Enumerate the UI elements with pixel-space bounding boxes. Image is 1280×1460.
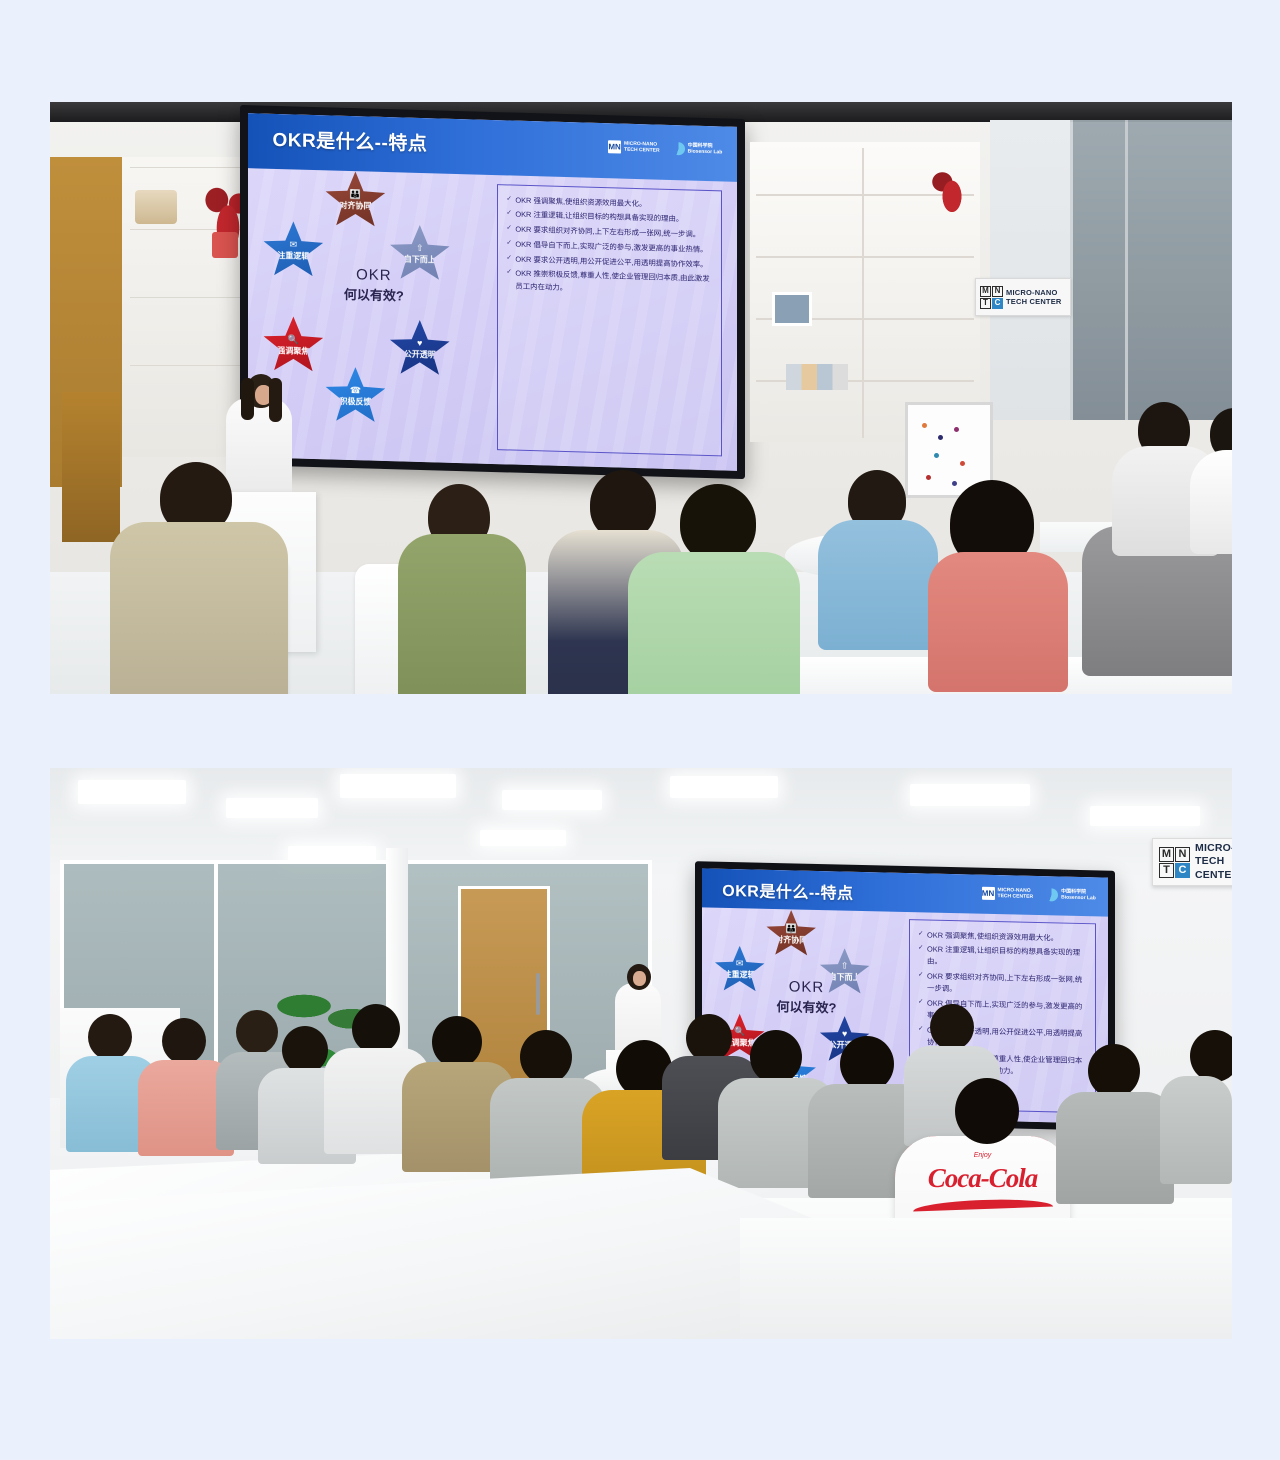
slide-title: OKR是什么--特点 (722, 877, 853, 904)
biosensor-lab-logo: 中国科学院Biosensor Lab (672, 142, 723, 156)
bullet-item: OKR 要求组织对齐协同,上下左右形成一张网,统一步调。 (918, 970, 1087, 998)
star-align-collaborate: 👪 对齐协同 (324, 171, 386, 232)
photo-meeting-closeup: OKR是什么--特点 MN MICRO-NANOTECH CENTER 中国科学… (50, 102, 1232, 694)
star-active-feedback: ☎ 积极反馈 (324, 366, 386, 427)
wall-sign-micro-nano: M N T C MICRO-NANO TECH CENTER (975, 278, 1071, 316)
wall-sign-text: MICRO-NANO TECH CENTER (1195, 842, 1232, 881)
slide-body: 👪 对齐协同 ✉ 注重逻辑 ⇧ 自下而上 🔍 (248, 168, 737, 471)
okr-slide: OKR是什么--特点 MN MICRO-NANOTECH CENTER 中国科学… (248, 113, 737, 471)
star-diagram-center-label: OKR 何以有效? (764, 977, 850, 1016)
presenter-face (633, 971, 646, 986)
up-arrow-icon: ⇧ (416, 244, 424, 253)
red-flower-arrangement-right (930, 160, 974, 212)
wall-sign-text: MICRO-NANO TECH CENTER (1006, 288, 1062, 307)
micro-nano-logo-text: MICRO-NANOTECH CENTER (998, 888, 1034, 900)
swirl-icon (672, 142, 685, 155)
side-door (990, 120, 1070, 420)
people-icon: 👪 (786, 924, 797, 933)
biosensor-lab-logo-text: 中国科学院Biosensor Lab (688, 143, 723, 155)
slide-logos: MN MICRO-NANOTECH CENTER 中国科学院Biosensor … (982, 887, 1096, 903)
ceiling-light (910, 784, 1030, 806)
star-label: 对齐协同 (775, 934, 807, 946)
envelope-icon: ✉ (290, 240, 298, 249)
star-align-collaborate: 👪 对齐协同 (765, 909, 817, 959)
star-label: 注重逻辑 (724, 969, 756, 981)
presentation-display: OKR是什么--特点 MN MICRO-NANOTECH CENTER 中国科学… (248, 113, 737, 471)
wood-panel-lower (62, 392, 120, 542)
envelope-icon: ✉ (736, 960, 744, 969)
star-label: 注重逻辑 (277, 250, 309, 262)
star-emphasize-focus: 🔍 强调聚焦 (262, 316, 324, 377)
right-counter-front (740, 1218, 1232, 1339)
mntc-logo-icon: M N T C (980, 286, 1003, 309)
micro-nano-logo-mark: MN (608, 140, 621, 153)
star-open-transparent: ♥ 公开透明 (389, 319, 451, 380)
presenter-hair-left (241, 378, 254, 420)
ceiling-light (78, 780, 186, 804)
ceiling-light (1090, 806, 1200, 826)
photo-meeting-wide: OKR是什么--特点 MN MICRO-NANOTECH CENTER 中国科学… (50, 768, 1232, 1339)
micro-nano-logo-text: MICRO-NANOTECH CENTER (624, 142, 660, 154)
attendee-head (955, 1078, 1019, 1144)
cola-brand-text: Coca-Cola (895, 1163, 1070, 1194)
star-label: 强调聚焦 (277, 345, 309, 357)
star-label: 自下而上 (404, 253, 436, 265)
glass-partition (1070, 120, 1232, 420)
ceiling-light (480, 830, 566, 846)
ceiling-light (226, 798, 318, 818)
micro-nano-logo: MN MICRO-NANOTECH CENTER (982, 887, 1034, 901)
okr-bullet-panel: OKR 强调聚焦,使组织资源效用最大化。 OKR 注重逻辑,让组织目标的构想具备… (497, 184, 722, 456)
search-icon: 🔍 (288, 335, 299, 344)
phone-icon: ☎ (350, 386, 361, 395)
biosensor-lab-logo-text: 中国科学院Biosensor Lab (1061, 890, 1096, 902)
star-focus-logic: ✉ 注重逻辑 (714, 945, 766, 995)
page-root: OKR是什么--特点 MN MICRO-NANOTECH CENTER 中国科学… (0, 0, 1280, 1460)
bullet-item: OKR 强调聚焦,使组织资源效用最大化。 (918, 929, 1087, 945)
okr-star-diagram: 👪 对齐协同 ✉ 注重逻辑 ⇧ 自下而上 🔍 (258, 174, 488, 452)
up-arrow-icon: ⇧ (841, 962, 849, 971)
red-vase-left (212, 232, 238, 258)
search-icon: 🔍 (734, 1028, 745, 1037)
cola-enjoy-text: Enjoy (895, 1152, 1070, 1159)
shelf-basket (135, 190, 177, 224)
ceiling-light (502, 790, 602, 810)
star-diagram-center-label: OKR 何以有效? (322, 266, 425, 306)
ceiling-light (340, 774, 456, 798)
ceiling-light (670, 776, 778, 798)
shelf-books (786, 364, 848, 390)
wall-sign-micro-nano: M N T C MICRO-NANO TECH CENTER (1152, 838, 1232, 886)
star-label: 公开透明 (404, 349, 436, 361)
micro-nano-logo-mark: MN (982, 887, 995, 900)
biosensor-lab-logo: 中国科学院Biosensor Lab (1045, 888, 1096, 902)
swirl-icon (1045, 888, 1058, 901)
heart-icon: ♥ (417, 339, 422, 348)
micro-nano-logo: MN MICRO-NANOTECH CENTER (608, 140, 660, 154)
star-label: 对齐协同 (339, 200, 371, 212)
star-focus-logic: ✉ 注重逻辑 (262, 221, 324, 282)
heart-icon: ♥ (842, 1030, 847, 1039)
mntc-logo-icon: M N T C (1159, 847, 1190, 878)
presenter-hair-right (269, 378, 282, 422)
bullet-item: OKR 推崇积极反馈,尊重人性,使企业管理回归本质,由此激发员工内在动力。 (506, 268, 713, 298)
people-icon: 👪 (350, 190, 361, 199)
star-label: 积极反馈 (339, 396, 371, 408)
door-handle (536, 973, 540, 1015)
slide-title: OKR是什么--特点 (272, 125, 427, 156)
bullet-item: OKR 注重逻辑,让组织目标的构想具备实现的理由。 (918, 944, 1087, 972)
framed-picture (772, 292, 812, 326)
